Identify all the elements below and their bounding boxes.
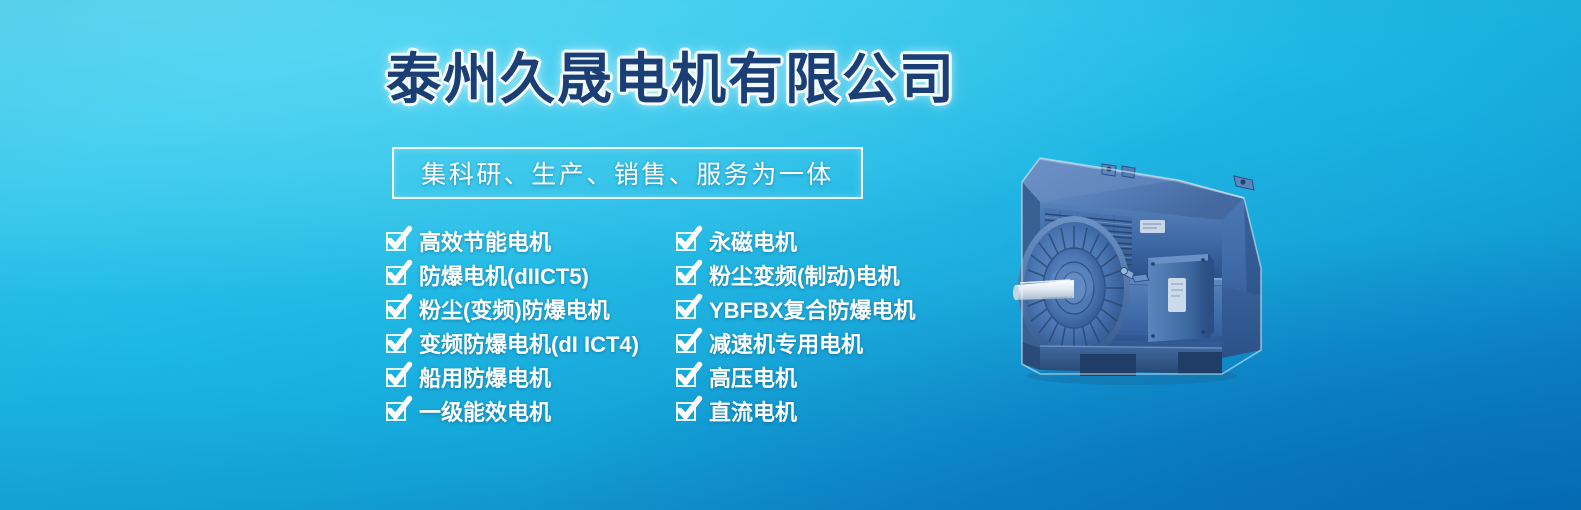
list-item-label: 高压电机 xyxy=(709,361,797,393)
checkbox-check-icon xyxy=(676,333,698,354)
list-item-label: 防爆电机(dIICT5) xyxy=(419,259,589,291)
list-item-label: 粉尘(变频)防爆电机 xyxy=(419,293,610,325)
list-item-label: YBFBX复合防爆电机 xyxy=(709,293,916,325)
list-item: 防爆电机(dIICT5) xyxy=(386,258,676,292)
list-item: 直流电机 xyxy=(676,394,966,428)
tagline-text: 集科研、生产、销售、服务为一体 xyxy=(421,155,834,191)
checkbox-check-icon xyxy=(676,299,698,320)
list-item-label: 直流电机 xyxy=(709,395,797,427)
product-feature-list: 高效节能电机 防爆电机(dIICT5) 粉尘(变频)防爆电机 xyxy=(386,224,986,428)
checkbox-check-icon xyxy=(676,401,698,422)
product-column-left: 高效节能电机 防爆电机(dIICT5) 粉尘(变频)防爆电机 xyxy=(386,224,676,428)
checkbox-check-icon xyxy=(386,367,408,388)
checkbox-check-icon xyxy=(386,401,408,422)
checkbox-check-icon xyxy=(386,231,408,252)
list-item: 永磁电机 xyxy=(676,224,966,258)
list-item-label: 船用防爆电机 xyxy=(419,361,551,393)
product-column-right: 永磁电机 粉尘变频(制动)电机 YBFBX复合防爆电机 xyxy=(676,224,966,428)
list-item: 变频防爆电机(dI ICT4) xyxy=(386,326,676,360)
checkbox-check-icon xyxy=(386,333,408,354)
checkbox-check-icon xyxy=(676,231,698,252)
list-item: YBFBX复合防爆电机 xyxy=(676,292,966,326)
list-item-label: 减速机专用电机 xyxy=(709,327,863,359)
checkbox-check-icon xyxy=(676,265,698,286)
checkbox-check-icon xyxy=(386,265,408,286)
list-item-label: 一级能效电机 xyxy=(419,395,551,427)
company-title: 泰州久晟电机有限公司 xyxy=(386,52,966,107)
checkbox-check-icon xyxy=(386,299,408,320)
list-item-label: 永磁电机 xyxy=(709,225,797,257)
list-item: 船用防爆电机 xyxy=(386,360,676,394)
list-item: 高压电机 xyxy=(676,360,966,394)
industrial-electric-motor-image xyxy=(982,128,1282,390)
list-item-label: 高效节能电机 xyxy=(419,225,551,257)
list-item-label: 变频防爆电机(dI ICT4) xyxy=(419,327,639,359)
checkbox-check-icon xyxy=(676,367,698,388)
list-item: 粉尘(变频)防爆电机 xyxy=(386,292,676,326)
list-item: 减速机专用电机 xyxy=(676,326,966,360)
list-item-label: 粉尘变频(制动)电机 xyxy=(709,259,900,291)
promo-banner: 泰州久晟电机有限公司 集科研、生产、销售、服务为一体 高效节能电机 防爆电机(d… xyxy=(0,0,1581,510)
tagline-box: 集科研、生产、销售、服务为一体 xyxy=(392,147,863,199)
list-item: 高效节能电机 xyxy=(386,224,676,258)
list-item: 粉尘变频(制动)电机 xyxy=(676,258,966,292)
list-item: 一级能效电机 xyxy=(386,394,676,428)
